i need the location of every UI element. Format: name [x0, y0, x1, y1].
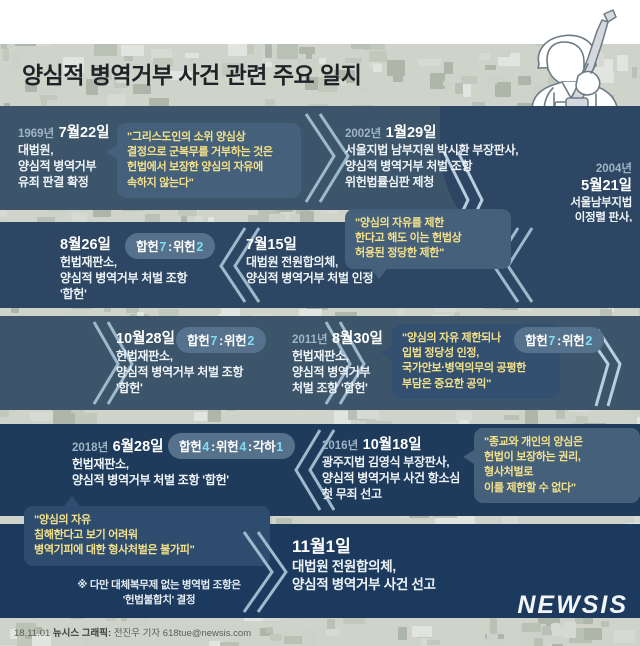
quote-q4-tail [463, 450, 474, 464]
credit-label: 뉴시스 그래픽: [53, 628, 111, 639]
quote-q4-line-1: 헌법이 보장하는 권리, [484, 450, 630, 465]
quote-q4: "종교와 개인의 양심은 헌법이 보장하는 권리, 형사처벌로 이를 제한할 수… [474, 428, 640, 503]
camo-blotch [421, 638, 427, 646]
camo-blotch [601, 621, 609, 627]
event-e7-line-2: 처벌 조항 '합헌' [292, 381, 383, 397]
event-e9-line-0: 광주지법 김영식 부장판사, [322, 455, 460, 471]
event-e2-year: 2002년 [345, 128, 381, 140]
event-e7-year: 2011년 [292, 334, 328, 346]
event-e1-line-2: 유죄 판결 확정 [18, 175, 110, 191]
event-e1-line-0: 대법원, [18, 143, 110, 159]
camo-blotch [194, 412, 207, 421]
camo-blotch [614, 630, 635, 643]
badge-b3: 합헌7:위헌2 [514, 327, 604, 353]
event-e10-date: 11월1일 [292, 537, 351, 556]
camo-blotch [326, 629, 340, 636]
camo-blotch [534, 638, 543, 646]
camo-blotch [398, 627, 407, 640]
quote-q1-tail [106, 145, 117, 159]
credit-line: 18.11.01 뉴시스 그래픽: 전진우 기자 618tue@newsis.c… [14, 625, 251, 639]
quote-q2-tail [371, 269, 387, 279]
event-e4-line-1: 양심적 병역거부 처벌 조항 [60, 271, 187, 287]
camo-blotch [299, 309, 322, 316]
camo-blotch [584, 628, 602, 640]
quote-q4-line-3: 이를 제한할 수 없다" [484, 481, 630, 496]
event-e7-date: 8월30일 [332, 331, 383, 347]
event-e1-date: 7월22일 [59, 125, 110, 141]
event-e3-line-0: 서울남부지법 [492, 196, 632, 211]
quote-q4-line-2: 형사처벌로 [484, 465, 630, 480]
event-e1: 1969년 7월22일 대법원, 양심적 병역거부 유죄 판결 확정 [18, 122, 110, 191]
camo-blotch [302, 630, 318, 646]
quote-q3-line-3: 부담은 중요한 공익" [402, 377, 550, 392]
camo-blotch [30, 412, 53, 421]
camo-blotch [551, 623, 560, 631]
badge-b1: 합헌7:위헌2 [125, 233, 215, 259]
camo-blotch [556, 409, 565, 419]
footnote-line-0: ※ 다만 대체복무제 없는 병역법 조항은 [44, 578, 274, 593]
quote-q1-line-2: 헌법에서 보장한 양심의 자유에 [127, 160, 291, 175]
camo-blotch [0, 640, 15, 645]
event-e7: 2011년 8월30일 헌법재판소, 양심적 병역거부 처벌 조항 '합헌' [292, 328, 383, 397]
camo-blotch [270, 634, 282, 641]
badge-b1-text: 합헌7:위헌2 [136, 240, 204, 254]
page-title: 양심적 병역거부 사건 관련 주요 일지 [22, 56, 361, 90]
event-e9-line-1: 양심적 병역거부 사건 항소심 [322, 471, 460, 487]
camo-blotch [0, 209, 7, 217]
camo-blotch [525, 410, 538, 425]
event-e9-line-2: 첫 무죄 선고 [322, 487, 460, 503]
quote-q1-line-1: 결정으로 군복무를 거부하는 것은 [127, 145, 291, 160]
event-e1-line-1: 양심적 병역거부 [18, 159, 110, 175]
event-e8-line-0: 헌법재판소, [72, 457, 229, 473]
quote-q1-line-0: "그리스도인의 소위 양심상 [127, 130, 291, 145]
quote-q5: "양심의 자유 침해한다고 보기 어려워 병역기피에 대한 형사처벌은 불가피" [24, 506, 270, 566]
event-e4-date: 8월26일 [60, 237, 111, 253]
newsis-logo: NEWSIS [517, 591, 628, 620]
footnote: ※ 다만 대체복무제 없는 병역법 조항은 '헌법불합치' 결정 [44, 578, 274, 608]
event-e10: 11월1일 대법원 전원합의체, 양심적 병역거부 사건 선고 [292, 536, 436, 594]
credit-date: 18.11.01 [14, 628, 50, 639]
camo-blotch [490, 618, 497, 634]
quote-q1-line-3: 속하지 않는다" [127, 176, 291, 191]
event-e2-date: 1월29일 [386, 125, 437, 141]
event-e10-line-1: 양심적 병역거부 사건 선고 [292, 576, 436, 594]
camo-blotch [220, 642, 239, 646]
event-e2-line-0: 서울지법 남부지원 박시환 부장판사, [345, 143, 518, 159]
event-e6-date: 10월28일 [116, 331, 175, 347]
quote-q5-line-2: 병역기피에 대한 형사처벌은 불가피" [34, 543, 260, 558]
camo-blotch [522, 623, 541, 632]
badge-b4-text: 합헌4:위헌4:각하1 [179, 440, 284, 454]
camo-blotch [284, 636, 302, 644]
event-e1-year: 1969년 [18, 128, 54, 140]
badge-b4: 합헌4:위헌4:각하1 [168, 433, 295, 459]
event-e5-date: 7월15일 [246, 237, 297, 253]
quote-q2-line-2: 허용된 정당한 제한" [355, 246, 501, 261]
quote-q1: "그리스도인의 소위 양심상 결정으로 군복무를 거부하는 것은 헌법에서 보장… [117, 123, 301, 198]
event-e6-line-2: '합헌' [116, 381, 243, 397]
event-e9-year: 2016년 [322, 440, 358, 452]
camo-blotch [208, 408, 221, 422]
quote-q2-line-1: 한다고 해도 이는 헌법상 [355, 231, 501, 246]
event-e4-line-2: '합헌' [60, 287, 187, 303]
camo-blotch [103, 638, 119, 646]
footnote-line-1: '헌법불합치' 결정 [44, 593, 274, 608]
badge-b2-text: 합헌7:위헌2 [187, 334, 255, 348]
quote-q5-line-1: 침해한다고 보기 어려워 [34, 528, 260, 543]
quote-q2: "양심의 자유를 제한 한다고 해도 이는 헌법상 허용된 정당한 제한" [345, 209, 511, 269]
camo-blotch [412, 626, 432, 637]
camo-blotch [266, 627, 273, 633]
event-e6-line-1: 양심적 병역거부 처벌 조항 [116, 365, 243, 381]
badge-b2: 합헌7:위헌2 [176, 327, 266, 353]
event-e7-line-1: 양심적 병역거부 [292, 365, 383, 381]
event-e5-line-1: 양심적 병역거부 처벌 인정 [246, 271, 373, 287]
infographic-root: 양심적 병역거부 사건 관련 주요 일지 [0, 0, 640, 646]
camo-blotch [564, 622, 576, 638]
event-e8-line-1: 양심적 병역거부 처벌 조항 '합헌' [72, 473, 229, 489]
event-e3-year: 2004년 [492, 162, 632, 177]
quote-q3-tail [381, 346, 392, 360]
camo-blotch [504, 415, 520, 420]
quote-q2-line-0: "양심의 자유를 제한 [355, 216, 501, 231]
event-e9: 2016년 10월18일 광주지법 김영식 부장판사, 양심적 병역거부 사건 … [322, 434, 460, 503]
quote-q4-line-0: "종교와 개인의 양심은 [484, 435, 630, 450]
event-e10-line-0: 대법원 전원합의체, [292, 558, 436, 576]
event-e7-line-0: 헌법재판소, [292, 349, 383, 365]
quote-q3-line-2: 국가안보·병역의무의 공평한 [402, 361, 550, 376]
camo-blotch [300, 211, 314, 222]
event-e8-date: 6월28일 [113, 439, 164, 455]
quote-q5-tail [64, 496, 80, 506]
event-e8-year: 2018년 [72, 442, 108, 454]
event-e9-date: 10월18일 [363, 437, 422, 453]
event-e3-date: 5월21일 [492, 177, 632, 196]
credit-author: 전진우 기자 618tue@newsis.com [114, 628, 251, 639]
quote-q5-line-0: "양심의 자유 [34, 513, 260, 528]
badge-b3-text: 합헌7:위헌2 [525, 334, 593, 348]
